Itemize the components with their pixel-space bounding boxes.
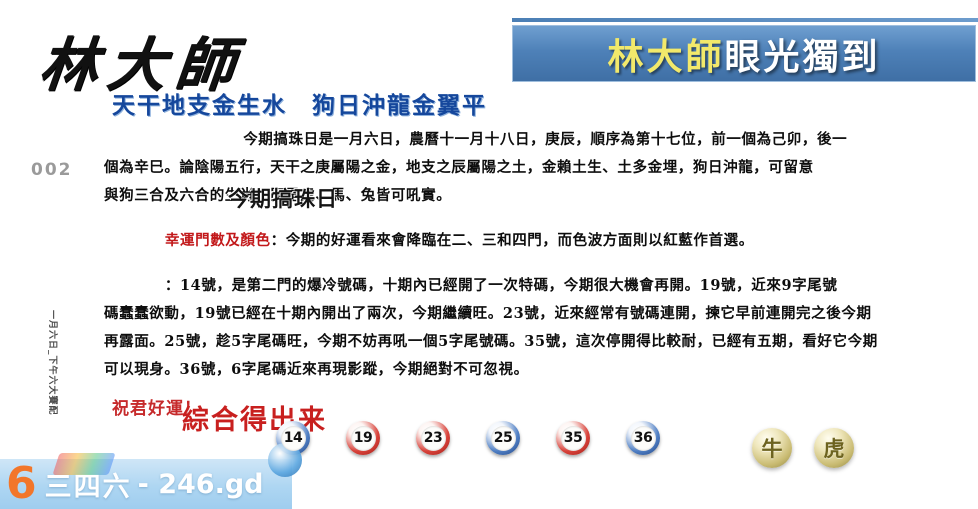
paragraph-1-line-2: 個為辛巳。論陰陽五行，天干之庚屬陽之金，地支之辰屬陽之土，金賴土生、土多金埋，狗… <box>104 154 978 182</box>
header-rule <box>512 18 978 22</box>
number-ball: 35 <box>556 421 590 455</box>
article-subtitle: 天干地支金生水 狗日沖龍金翼平 <box>112 86 487 120</box>
ball-number: 36 <box>634 430 652 446</box>
ball-number: 19 <box>354 430 372 446</box>
number-ball: 23 <box>416 421 450 455</box>
promo-banner-name: 林大師 <box>607 37 724 78</box>
article-body: 今期搞珠日是一月六日，農曆十一月十八日，庚辰，順序為第十七位，前一個為己卯，後一… <box>104 126 978 384</box>
promo-banner-text: 林大師眼光獨到 <box>607 28 880 80</box>
ball-number: 23 <box>424 430 442 446</box>
lucky-line: 幸運門數及顏色：今期的好運看來會降臨在二、三和四門，而色波方面則以紅藍作首選。 <box>104 227 978 255</box>
zodiac-label: 牛 <box>762 433 783 463</box>
paragraph-3-line-2: 碼蠢蠢欲動，19號已經在十期內開出了兩次，今期繼續旺。23號，近來經常有號碼連開… <box>104 300 978 328</box>
vertical-date-stamp: 一月六日_下午六大賽配 <box>47 310 60 416</box>
number-ball: 36 <box>626 421 660 455</box>
number-ball: 25 <box>486 421 520 455</box>
site-watermark: 6 三四六 - 246.gd <box>0 459 292 509</box>
watermark-domain: - 246.gd <box>138 469 264 500</box>
paragraph-3-line-4: 可以現身。36號，6字尾碼近來再現影蹤，今期絕對不可忽視。 <box>104 356 978 384</box>
watermark-ribbon-icon <box>52 453 115 475</box>
newspaper-page: 林大師 天干地支金生水 狗日沖龍金翼平 林大師眼光獨到 002 一月六日_下午六… <box>0 0 978 509</box>
draw-date-overlay: 今期搞珠日 <box>228 183 338 213</box>
zodiac-ball: 虎 <box>814 428 854 468</box>
paragraph-1-line-1: 今期搞珠日是一月六日，農曆十一月十八日，庚辰，順序為第十七位，前一個為己卯，後一 <box>104 126 978 154</box>
number-ball: 19 <box>346 421 380 455</box>
ball-number: 35 <box>564 430 582 446</box>
promo-banner-slogan: 眼光獨到 <box>725 37 881 78</box>
zodiac-label: 虎 <box>824 433 845 463</box>
paragraph-spacer-2 <box>104 255 978 272</box>
lucky-heading: 幸運門數及顏色 <box>165 232 271 249</box>
watermark-logo-digit: 6 <box>6 462 37 506</box>
ball-number: 14 <box>284 430 302 446</box>
zodiac-balls: 牛 虎 <box>752 428 854 468</box>
lucky-text: ：今期的好運看來會降臨在二、三和四門，而色波方面則以紅藍作首選。 <box>271 232 754 249</box>
paragraph-3-line-3: 再露面。25號，趁5字尾碼旺，今期不妨再吼一個5字尾號碼。35號，這次停開得比較… <box>104 328 978 356</box>
lucky-number-balls: 14 19 23 25 35 36 <box>276 421 660 455</box>
zodiac-ball: 牛 <box>752 428 792 468</box>
page-number: 002 <box>31 160 73 180</box>
paragraph-3-line-1: ：14號，是第二門的爆冷號碼，十期內已經開了一次特碼，今期很大機會再開。19號，… <box>104 272 978 300</box>
promo-banner: 林大師眼光獨到 <box>512 25 976 82</box>
ball-number: 25 <box>494 430 512 446</box>
